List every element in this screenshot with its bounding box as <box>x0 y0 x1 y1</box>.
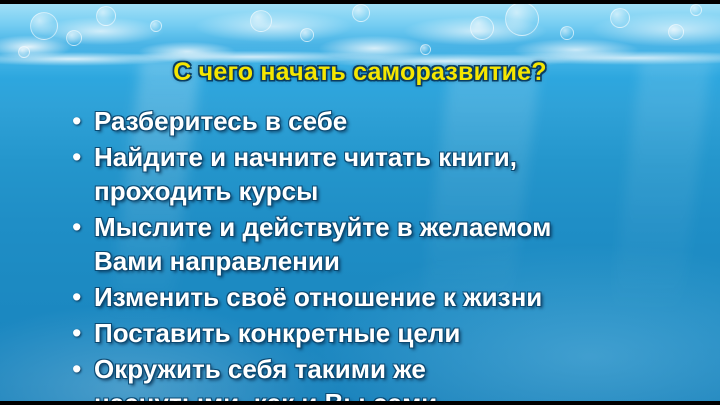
list-item: • Разберитесь в себе <box>72 104 696 138</box>
list-item: • Поставить конкретные цели <box>72 316 696 350</box>
bullet-list: • Разберитесь в себе • Найдите и начните… <box>72 104 696 405</box>
letterbox-bar-top <box>0 0 720 4</box>
list-item-text: Поставить конкретные цели <box>94 316 460 350</box>
bullet-marker-icon: • <box>72 280 94 314</box>
list-item: • Изменить своё отношение к жизни <box>72 280 696 314</box>
bullet-marker-icon: • <box>72 210 94 244</box>
bullet-marker-icon: • <box>72 352 94 386</box>
list-item: • Найдите и начните читать книги, проход… <box>72 140 696 208</box>
slide-canvas: С чего начать саморазвитие? • Разберитес… <box>0 0 720 405</box>
bullet-marker-icon: • <box>72 316 94 350</box>
list-item: • Окружить себя такими же нacнутыми, как… <box>72 352 696 405</box>
list-item-text: Разберитесь в себе <box>94 104 347 138</box>
slide-content: С чего начать саморазвитие? • Разберитес… <box>0 0 720 405</box>
list-item-text: Изменить своё отношение к жизни <box>94 280 542 314</box>
bullet-marker-icon: • <box>72 104 94 138</box>
list-item-text: Мыслите и действуйте в желаемом Вами нап… <box>94 210 551 278</box>
list-item-text: Найдите и начните читать книги, проходит… <box>94 140 517 208</box>
slide-title: С чего начать саморазвитие? <box>0 58 720 87</box>
list-item: • Мыслите и действуйте в желаемом Вами н… <box>72 210 696 278</box>
bullet-marker-icon: • <box>72 140 94 174</box>
letterbox-bar-bottom <box>0 401 720 405</box>
list-item-text: Окружить себя такими же нacнутыми, как и… <box>94 352 437 405</box>
